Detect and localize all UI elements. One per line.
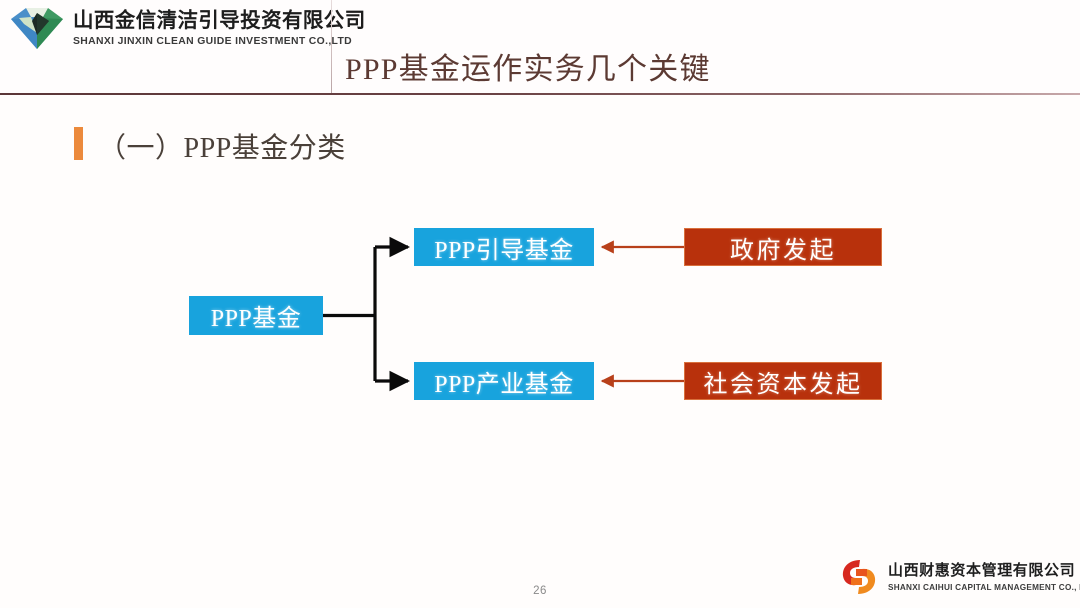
ppp-fund-classification-diagram: PPP基金 PPP引导基金 PPP产业基金 政府发起 社会资本发起	[0, 0, 1080, 608]
node-government-initiated[interactable]: 政府发起	[684, 228, 882, 266]
swirl-s-icon	[838, 556, 880, 598]
node-social-capital-initiated[interactable]: 社会资本发起	[684, 362, 882, 400]
node-ppp-industry-fund[interactable]: PPP产业基金	[414, 362, 594, 400]
node-ppp-fund[interactable]: PPP基金	[189, 296, 323, 335]
node-ppp-guide-fund[interactable]: PPP引导基金	[414, 228, 594, 266]
footer-company-name-en: SHANXI CAIHUI CAPITAL MANAGEMENT CO., LT…	[888, 582, 1080, 593]
slide-canvas: 山西金信清洁引导投资有限公司 SHANXI JINXIN CLEAN GUIDE…	[0, 0, 1080, 608]
footer-name-block: 山西财惠资本管理有限公司 SHANXI CAIHUI CAPITAL MANAG…	[888, 562, 1080, 593]
footer-company-name-cn: 山西财惠资本管理有限公司	[888, 562, 1080, 580]
company-logo-footer: 山西财惠资本管理有限公司 SHANXI CAIHUI CAPITAL MANAG…	[838, 556, 1080, 598]
diagram-connectors	[0, 0, 1080, 608]
